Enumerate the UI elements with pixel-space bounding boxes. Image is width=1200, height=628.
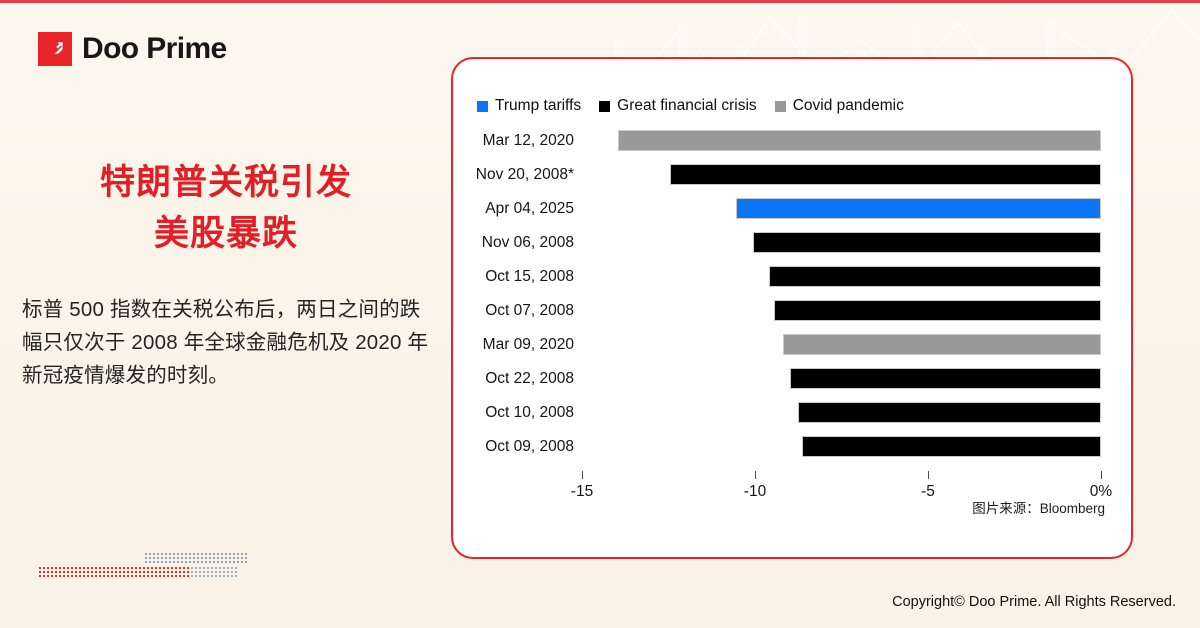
halftone-red bbox=[38, 566, 190, 579]
axis-tick-mark bbox=[582, 471, 583, 479]
legend-label: Great financial crisis bbox=[617, 97, 757, 115]
chart-legend: Trump tariffsGreat financial crisisCovid… bbox=[477, 97, 904, 115]
chart-card: Trump tariffsGreat financial crisisCovid… bbox=[451, 57, 1133, 559]
legend-item[interactable]: Covid pandemic bbox=[775, 97, 904, 115]
chart-bar-row: Mar 09, 2020 bbox=[453, 331, 1131, 358]
halftone-decoration bbox=[38, 550, 248, 584]
brand-name: Doo Prime bbox=[82, 34, 227, 64]
axis-tick-mark bbox=[928, 471, 929, 479]
chart-bar-row: Oct 10, 2008 bbox=[453, 399, 1131, 426]
chart-bar-row: Nov 06, 2008 bbox=[453, 229, 1131, 256]
chart-bar bbox=[798, 402, 1101, 423]
legend-label: Trump tariffs bbox=[495, 97, 581, 115]
chart-bar bbox=[774, 300, 1101, 321]
chart-bar bbox=[736, 198, 1101, 219]
page-title: 特朗普关税引发 美股暴跌 bbox=[24, 158, 428, 260]
chart-category-label: Nov 20, 2008* bbox=[429, 161, 574, 188]
chart-bar-row: Oct 09, 2008 bbox=[453, 433, 1131, 460]
chart-category-label: Nov 06, 2008 bbox=[429, 229, 574, 256]
chart-bar bbox=[769, 266, 1101, 287]
chart-bar bbox=[783, 334, 1101, 355]
chart-bar-row: Apr 04, 2025 bbox=[453, 195, 1131, 222]
headline-line-1: 特朗普关税引发 bbox=[100, 163, 352, 202]
legend-swatch-icon bbox=[599, 101, 610, 112]
axis-tick-mark bbox=[755, 471, 756, 479]
top-accent-line bbox=[0, 0, 1200, 3]
chart-category-label: Oct 07, 2008 bbox=[429, 297, 574, 324]
chart-category-label: Oct 09, 2008 bbox=[429, 433, 574, 460]
doo-prime-logo-mark-icon bbox=[38, 32, 72, 66]
axis-tick-mark bbox=[1101, 471, 1102, 479]
chart-bar-row: Oct 07, 2008 bbox=[453, 297, 1131, 324]
chart-bar bbox=[618, 130, 1101, 151]
chart-plot-area: Mar 12, 2020Nov 20, 2008*Apr 04, 2025Nov… bbox=[453, 123, 1131, 557]
subheadline-paragraph: 标普 500 指数在关税公布后，两日之间的跌幅只仅次于 2008 年全球金融危机… bbox=[22, 293, 434, 393]
legend-item[interactable]: Great financial crisis bbox=[599, 97, 757, 115]
axis-tick-label: -5 bbox=[921, 483, 935, 501]
footer-copyright: Copyright© Doo Prime. All Rights Reserve… bbox=[892, 594, 1176, 610]
axis-tick-label: -10 bbox=[744, 483, 766, 501]
chart-category-label: Mar 12, 2020 bbox=[429, 127, 574, 154]
axis-tick-label: -15 bbox=[571, 483, 593, 501]
chart-bar-row: Oct 22, 2008 bbox=[453, 365, 1131, 392]
chart-bar bbox=[802, 436, 1101, 457]
chart-bar bbox=[790, 368, 1101, 389]
chart-bar-row: Oct 15, 2008 bbox=[453, 263, 1131, 290]
halftone-blue-top bbox=[144, 552, 248, 565]
chart-category-label: Mar 09, 2020 bbox=[429, 331, 574, 358]
chart-bar-row: Nov 20, 2008* bbox=[453, 161, 1131, 188]
legend-swatch-icon bbox=[775, 101, 786, 112]
legend-label: Covid pandemic bbox=[793, 97, 904, 115]
chart-bar-row: Mar 12, 2020 bbox=[453, 127, 1131, 154]
chart-bar bbox=[670, 164, 1101, 185]
chart-category-label: Oct 15, 2008 bbox=[429, 263, 574, 290]
chart-source-note: 图片来源：Bloomberg bbox=[972, 497, 1105, 517]
chart-category-label: Apr 04, 2025 bbox=[429, 195, 574, 222]
headline-line-2: 美股暴跌 bbox=[24, 209, 428, 260]
brand-logo[interactable]: Doo Prime bbox=[38, 32, 227, 66]
chart-category-label: Oct 22, 2008 bbox=[429, 365, 574, 392]
chart-category-label: Oct 10, 2008 bbox=[429, 399, 574, 426]
legend-item[interactable]: Trump tariffs bbox=[477, 97, 581, 115]
chart-bar bbox=[753, 232, 1101, 253]
legend-swatch-icon bbox=[477, 101, 488, 112]
